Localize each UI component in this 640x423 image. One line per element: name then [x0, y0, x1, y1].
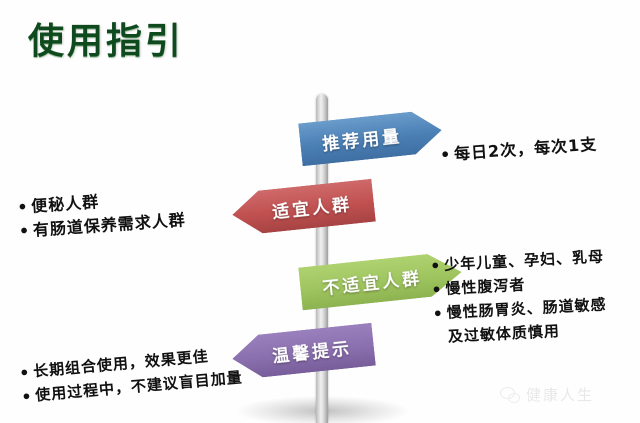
- unsuitable-text-block: • 少年儿童、孕妇、乳母 • 慢性腹泻者 • 慢性肠胃炎、肠道敏感 及过敏体质慎…: [430, 246, 609, 349]
- bullet-icon: •: [431, 278, 446, 303]
- sign-suitable-label: 适宜人群: [271, 190, 353, 223]
- list-item: • 每日2次，每次1支: [439, 133, 598, 168]
- tips-text-block: • 长期组合使用，效果更佳 • 使用过程中，不建议盲目加量: [18, 342, 243, 409]
- sign-tips[interactable]: 温馨提示: [230, 323, 376, 381]
- list-item-label: 每日2次，每次1支: [453, 133, 598, 167]
- sign-recommend-label: 推荐用量: [321, 122, 403, 155]
- watermark: 健康人生: [500, 384, 594, 405]
- list-item-label: 慢性腹泻者: [445, 274, 526, 301]
- suitable-text-block: • 便秘人群 • 有肠道保养需求人群: [17, 184, 187, 244]
- sign-suitable[interactable]: 适宜人群: [230, 179, 376, 237]
- page-title: 使用指引: [28, 12, 184, 64]
- bullet-icon: •: [430, 254, 445, 279]
- slide-canvas: 使用指引 推荐用量 适宜人群 不适宜人群 温馨提示 • 每日2次，每次1支 • …: [0, 0, 640, 423]
- watermark-label: 健康人生: [526, 384, 594, 405]
- wechat-bubble-small: [508, 393, 520, 403]
- bullet-icon: •: [432, 302, 447, 327]
- wechat-icon: [500, 387, 520, 403]
- sign-tips-label: 温馨提示: [271, 334, 353, 367]
- dosage-text-block: • 每日2次，每次1支: [439, 133, 598, 168]
- sign-unsuitable-label: 不适宜人群: [321, 264, 423, 299]
